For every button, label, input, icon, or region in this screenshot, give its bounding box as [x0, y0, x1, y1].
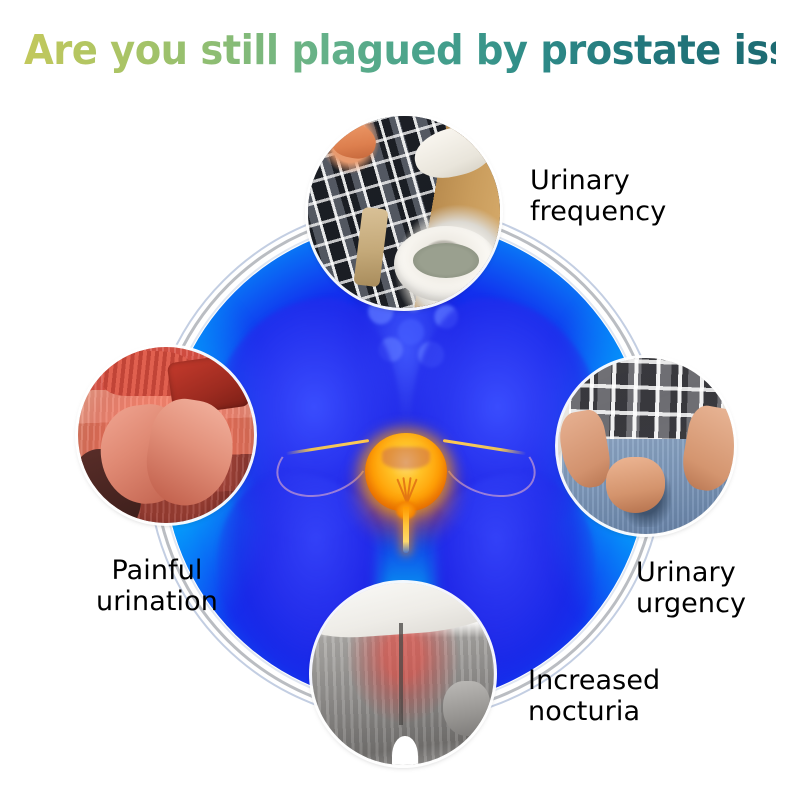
toilet-water [413, 243, 480, 278]
bladder-inner-shading [382, 447, 430, 469]
photo-painful-urination-image [78, 347, 254, 523]
symptom-wheel-graphic: Urinary frequency Painful urination Urin… [0, 0, 800, 800]
label-urinary-urgency: Urinary urgency [636, 558, 746, 620]
belt-strap [353, 207, 388, 288]
poster-canvas: Are you still plagued by prostate issues… [0, 0, 800, 800]
hand-on-waistband [329, 120, 379, 162]
label-increased-nocturia: Increased nocturia [528, 666, 660, 728]
toilet-lid [409, 119, 498, 185]
label-painful-urination: Painful urination [62, 556, 252, 618]
photo-urinary-frequency-image [308, 116, 500, 308]
hand-at-side [443, 681, 490, 736]
leg-gap [392, 736, 417, 765]
photo-increased-nocturia-image [312, 583, 494, 765]
bladder-prostate-highlight [331, 389, 481, 539]
urethra-tube [403, 507, 409, 553]
photo-increased-nocturia [312, 583, 494, 765]
hands-covering-groin [606, 457, 666, 513]
bladder-organ [365, 433, 447, 511]
toilet-bowl [394, 226, 498, 302]
photo-painful-urination [78, 347, 254, 523]
photo-urinary-urgency [558, 358, 734, 534]
jeans-fly [399, 623, 403, 725]
label-urinary-frequency: Urinary frequency [530, 166, 666, 228]
photo-urinary-frequency [308, 116, 500, 308]
photo-urinary-urgency-image [558, 358, 734, 534]
